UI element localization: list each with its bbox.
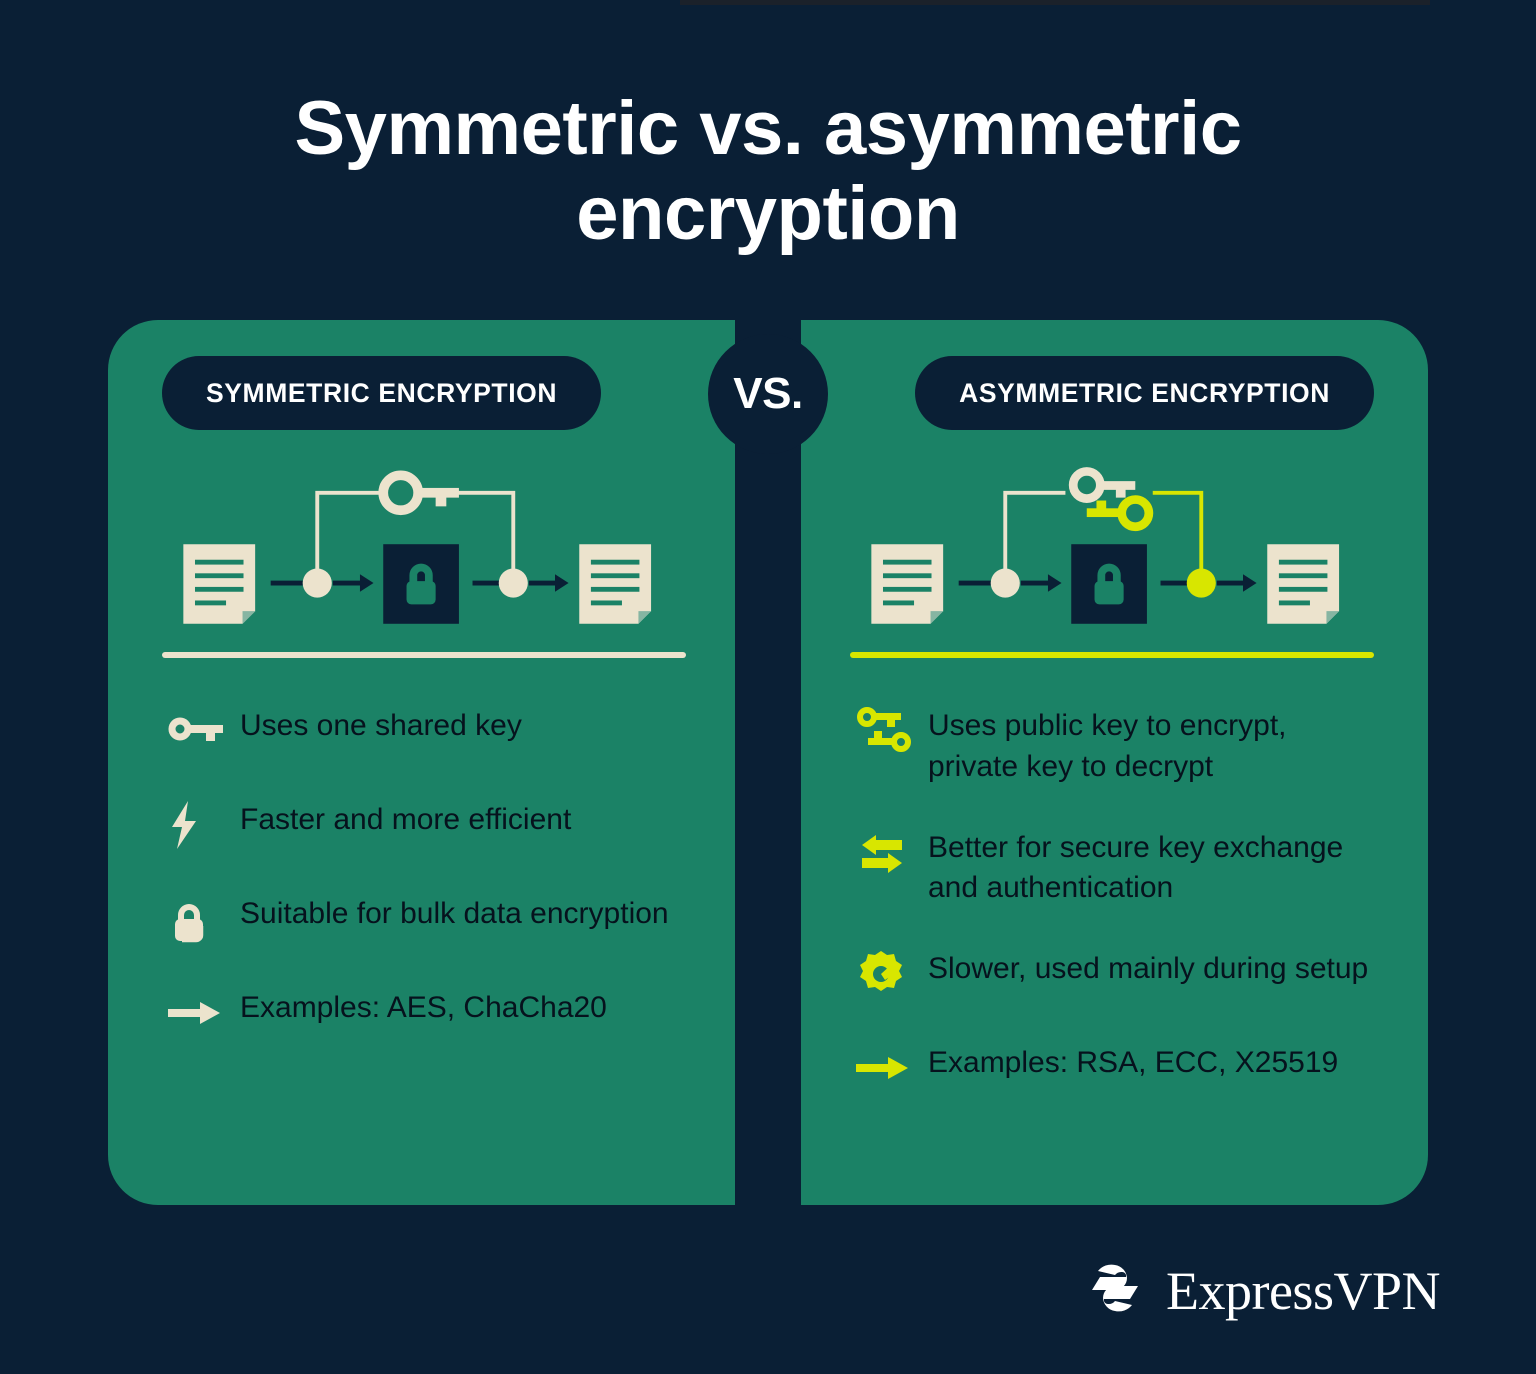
symmetric-diagram (162, 456, 686, 646)
list-item: Uses one shared key (162, 702, 686, 760)
asymmetric-card: ASYMMETRIC ENCRYPTION (796, 320, 1428, 1205)
arrow-right-icon (162, 984, 240, 1042)
asymmetric-header-pill: ASYMMETRIC ENCRYPTION (915, 356, 1374, 430)
lock-box-icon (1071, 544, 1147, 624)
asymmetric-bullet-list: Uses public key to encrypt, private key … (850, 702, 1374, 1097)
list-item: Uses public key to encrypt, private key … (850, 702, 1374, 788)
symmetric-header-pill: SYMMETRIC ENCRYPTION (162, 356, 601, 430)
padlock-icon (162, 890, 240, 948)
lightning-bolt-icon (162, 796, 240, 854)
document-icon-ciphertext (579, 544, 651, 624)
key-node-right (499, 568, 528, 597)
list-item-label: Suitable for bulk data encryption (240, 890, 669, 935)
public-key-icon (1073, 471, 1135, 498)
list-item: Faster and more efficient (162, 796, 686, 854)
list-item-label: Better for secure key exchange and authe… (928, 824, 1374, 910)
two-keys-icon (850, 702, 928, 760)
vs-badge: VS. (708, 334, 828, 454)
list-item-label: Faster and more efficient (240, 796, 571, 841)
list-item: Slower, used mainly during setup (850, 945, 1374, 1003)
arrow-right-icon (850, 1039, 928, 1097)
private-key-node (1187, 568, 1216, 597)
asymmetric-diagram (850, 456, 1374, 646)
symmetric-bullet-list: Uses one shared key Faster and more effi… (162, 702, 686, 1042)
symmetric-card: SYMMETRIC ENCRYPTION (108, 320, 740, 1205)
asymmetric-divider (850, 652, 1374, 658)
document-icon-plaintext (871, 544, 943, 624)
public-key-node (991, 568, 1020, 597)
private-key-icon (1087, 500, 1149, 527)
exchange-arrows-icon (850, 824, 928, 882)
expressvpn-wordmark: ExpressVPN (1166, 1260, 1440, 1322)
list-item: Examples: RSA, ECC, X25519 (850, 1039, 1374, 1097)
shared-key-icon (383, 475, 459, 510)
list-item-label: Examples: RSA, ECC, X25519 (928, 1039, 1338, 1084)
list-item: Better for secure key exchange and authe… (850, 824, 1374, 910)
document-icon-plaintext (183, 544, 255, 624)
list-item-label: Uses one shared key (240, 702, 522, 747)
document-icon-ciphertext (1267, 544, 1339, 624)
page-title: Symmetric vs. asymmetric encryption (0, 86, 1536, 256)
list-item: Suitable for bulk data encryption (162, 890, 686, 948)
asymmetric-header-row: ASYMMETRIC ENCRYPTION (850, 356, 1374, 430)
expressvpn-mark-icon (1084, 1257, 1146, 1324)
lock-box-icon (383, 544, 459, 624)
list-item-label: Examples: AES, ChaCha20 (240, 984, 607, 1029)
top-edge-strip (680, 0, 1430, 5)
symmetric-divider (162, 652, 686, 658)
key-node-left (303, 568, 332, 597)
expressvpn-logo: ExpressVPN (1084, 1257, 1440, 1324)
list-item-label: Uses public key to encrypt, private key … (928, 702, 1374, 788)
symmetric-header-row: SYMMETRIC ENCRYPTION (162, 356, 686, 430)
list-item-label: Slower, used mainly during setup (928, 945, 1368, 990)
key-icon (162, 702, 240, 760)
list-item: Examples: AES, ChaCha20 (162, 984, 686, 1042)
gear-icon (850, 945, 928, 1003)
